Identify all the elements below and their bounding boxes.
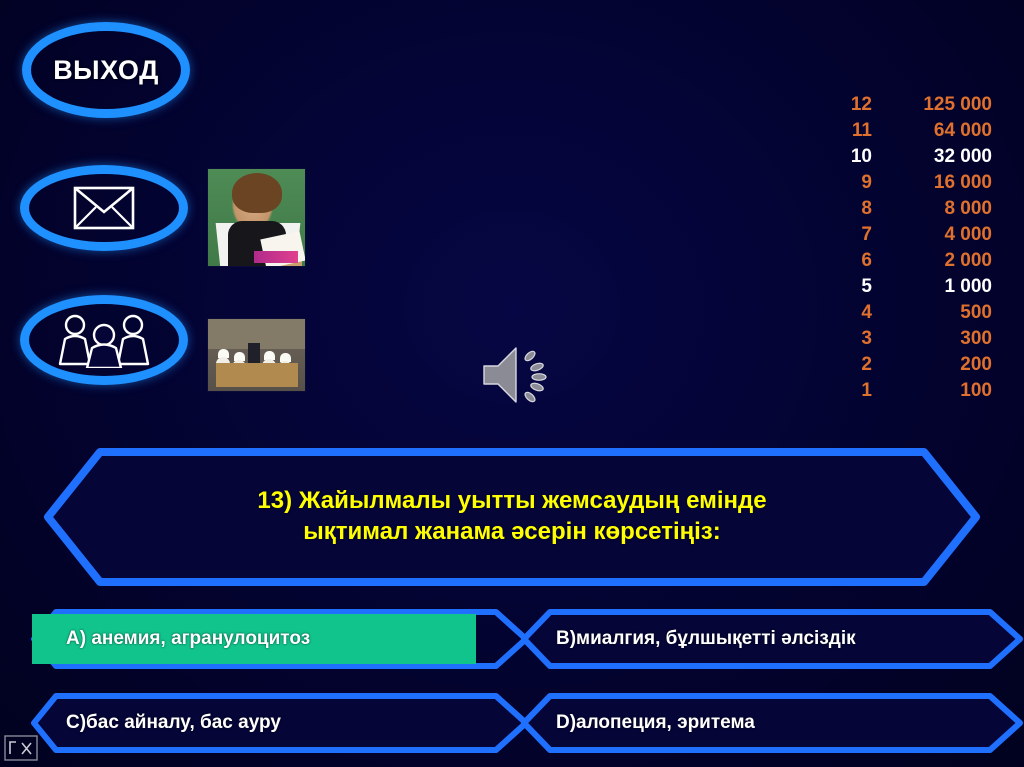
lifeline-phone-a-friend-button[interactable] bbox=[20, 165, 188, 251]
prize-amount: 16 000 bbox=[872, 170, 1000, 196]
prize-amount: 200 bbox=[872, 352, 1000, 378]
exit-label: ВЫХОД bbox=[53, 55, 159, 86]
prize-level: 6 bbox=[826, 248, 872, 274]
prize-amount: 64 000 bbox=[872, 118, 1000, 144]
prize-level: 2 bbox=[826, 352, 872, 378]
prize-amount: 300 bbox=[872, 326, 1000, 352]
prize-amount: 100 bbox=[872, 378, 1000, 404]
prize-row: 74 000 bbox=[826, 222, 1016, 248]
prize-level: 4 bbox=[826, 300, 872, 326]
broken-image-icon bbox=[4, 735, 38, 761]
prize-level: 8 bbox=[826, 196, 872, 222]
photo-classroom-thumbnail bbox=[207, 318, 306, 392]
prize-row: 916 000 bbox=[826, 170, 1016, 196]
answer-option-a[interactable]: A) анемия, агранулоцитоз bbox=[30, 608, 530, 670]
prize-ladder: 12125 0001164 0001032 000916 00088 00074… bbox=[826, 92, 1016, 404]
prize-level: 5 bbox=[826, 274, 872, 300]
prize-row: 1100 bbox=[826, 378, 1016, 404]
prize-amount: 32 000 bbox=[872, 144, 1000, 170]
question-banner: 13) Жайылмалы уытты жемсаудың емінде ықт… bbox=[42, 446, 982, 588]
question-line-2: ықтимал жанама әсерін көрсетіңіз: bbox=[303, 517, 720, 548]
prize-level: 3 bbox=[826, 326, 872, 352]
prize-row: 4500 bbox=[826, 300, 1016, 326]
prize-level: 7 bbox=[826, 222, 872, 248]
prize-level: 11 bbox=[826, 118, 872, 144]
prize-row: 1032 000 bbox=[826, 144, 1016, 170]
quiz-slide: ВЫХОД bbox=[0, 0, 1024, 767]
prize-level: 10 bbox=[826, 144, 872, 170]
answer-a-label: A) анемия, агранулоцитоз bbox=[66, 608, 310, 670]
prize-row: 51 000 bbox=[826, 274, 1016, 300]
three-people-icon bbox=[49, 312, 159, 368]
lifeline-ask-the-audience-button[interactable] bbox=[20, 295, 188, 385]
answer-c-label: C)бас айналу, бас ауру bbox=[66, 692, 281, 754]
prize-amount: 1 000 bbox=[872, 274, 1000, 300]
prize-level: 9 bbox=[826, 170, 872, 196]
prize-amount: 125 000 bbox=[872, 92, 1000, 118]
answer-option-b[interactable]: B)миалгия, бұлшықетті әлсіздік bbox=[520, 608, 1024, 670]
prize-row: 2200 bbox=[826, 352, 1016, 378]
prize-row: 1164 000 bbox=[826, 118, 1016, 144]
speaker-sound-icon[interactable] bbox=[480, 340, 558, 410]
answer-option-c[interactable]: C)бас айналу, бас ауру bbox=[30, 692, 530, 754]
prize-level: 12 bbox=[826, 92, 872, 118]
prize-amount: 500 bbox=[872, 300, 1000, 326]
prize-amount: 8 000 bbox=[872, 196, 1000, 222]
exit-button[interactable]: ВЫХОД bbox=[22, 22, 190, 118]
answer-option-d[interactable]: D)алопеция, эритема bbox=[520, 692, 1024, 754]
answer-b-label: B)миалгия, бұлшықетті әлсіздік bbox=[556, 608, 856, 670]
prize-row: 88 000 bbox=[826, 196, 1016, 222]
question-text: 13) Жайылмалы уытты жемсаудың емінде ықт… bbox=[132, 446, 892, 588]
prize-amount: 2 000 bbox=[872, 248, 1000, 274]
prize-row: 62 000 bbox=[826, 248, 1016, 274]
answer-d-label: D)алопеция, эритема bbox=[556, 692, 755, 754]
prize-amount: 4 000 bbox=[872, 222, 1000, 248]
question-line-1: 13) Жайылмалы уытты жемсаудың емінде bbox=[257, 486, 766, 517]
prize-row: 12125 000 bbox=[826, 92, 1016, 118]
photo-teacher-thumbnail bbox=[207, 168, 306, 267]
envelope-icon bbox=[73, 186, 135, 230]
prize-level: 1 bbox=[826, 378, 872, 404]
prize-row: 3300 bbox=[826, 326, 1016, 352]
